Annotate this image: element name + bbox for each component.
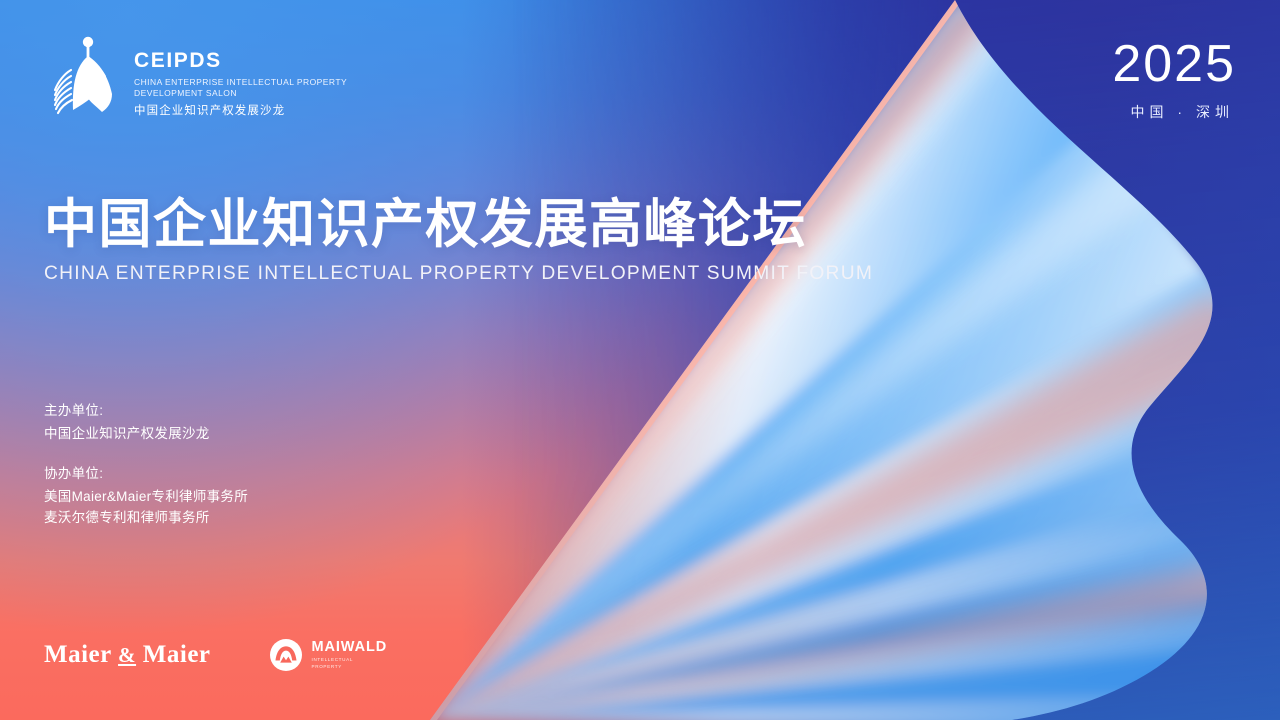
maiwald-logo-text: MAIWALD INTELLECTUAL PROPERTY (312, 640, 388, 670)
ceipds-subtitle-cn: 中国企业知识产权发展沙龙 (134, 102, 347, 118)
maiwald-tagline-2: PROPERTY (312, 665, 388, 670)
ceipds-acronym: CEIPDS (134, 50, 347, 71)
ceipds-subtitle-en-1: CHINA ENTERPRISE INTELLECTUAL PROPERTY (134, 77, 347, 88)
headline-english: CHINA ENTERPRISE INTELLECTUAL PROPERTY D… (44, 263, 873, 285)
event-year-location: 2025 中国 · 深圳 (1112, 38, 1236, 122)
organizer-label-co-host: 协办单位: (44, 463, 248, 485)
organizer-group-host: 主办单位: 中国企业知识产权发展沙龙 (44, 400, 248, 445)
maiwald-tagline-1: INTELLECTUAL (312, 658, 388, 663)
sponsor-logos: Maier & Maier MAIWALD INTELLECTUAL PROPE… (44, 638, 387, 672)
ceipds-subtitle-en-2: DEVELOPMENT SALON (134, 88, 347, 99)
organizer-item: 麦沃尔德专利和律师事务所 (44, 507, 248, 529)
maier-ampersand: & (118, 643, 136, 667)
maiwald-name: MAIWALD (312, 640, 388, 655)
ceipds-logo: CEIPDS CHINA ENTERPRISE INTELLECTUAL PRO… (46, 36, 347, 118)
organizer-label-host: 主办单位: (44, 400, 248, 422)
maier-word-1: Maier (44, 641, 111, 668)
maier-word-2: Maier (143, 641, 211, 668)
headline-chinese: 中国企业知识产权发展高峰论坛 (44, 196, 873, 253)
maiwald-circle-m-icon (269, 638, 303, 672)
page-title: 中国企业知识产权发展高峰论坛 CHINA ENTERPRISE INTELLEC… (44, 196, 873, 285)
organizer-item: 美国Maier&Maier专利律师事务所 (44, 486, 248, 508)
ceipds-emblem-icon (46, 36, 118, 118)
organizer-item: 中国企业知识产权发展沙龙 (44, 423, 248, 445)
maier-and-maier-logo: Maier & Maier (44, 641, 211, 669)
poster-canvas: CEIPDS CHINA ENTERPRISE INTELLECTUAL PRO… (0, 0, 1280, 720)
organizer-group-co-host: 协办单位: 美国Maier&Maier专利律师事务所 麦沃尔德专利和律师事务所 (44, 463, 248, 530)
event-city: 中国 · 深圳 (1112, 102, 1236, 122)
ceipds-logo-text: CEIPDS CHINA ENTERPRISE INTELLECTUAL PRO… (134, 36, 347, 118)
maiwald-logo: MAIWALD INTELLECTUAL PROPERTY (269, 638, 388, 672)
organizers-block: 主办单位: 中国企业知识产权发展沙龙 协办单位: 美国Maier&Maier专利… (44, 400, 248, 529)
event-year: 2025 (1112, 38, 1236, 90)
